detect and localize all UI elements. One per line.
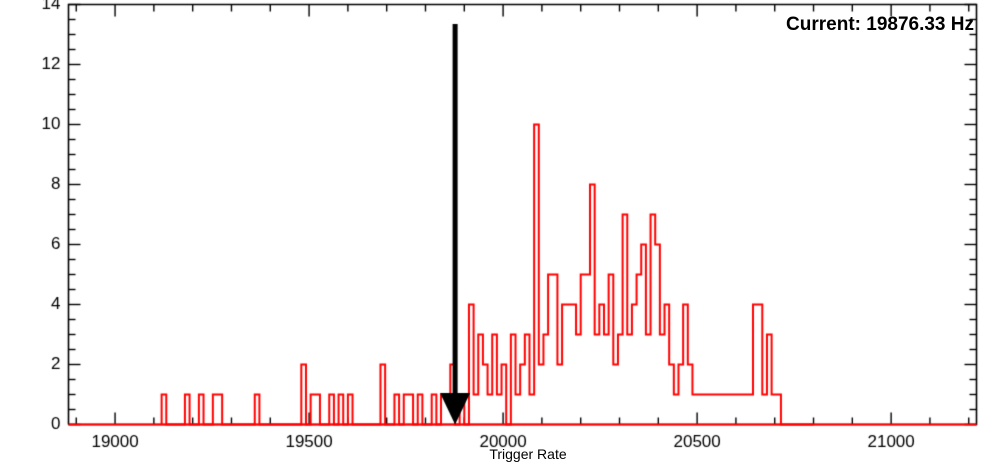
trigger-rate-histogram-canvas[interactable] xyxy=(0,0,996,472)
x-axis-title: Trigger Rate xyxy=(0,446,996,462)
x-axis-title-text: Trigger Rate xyxy=(489,446,566,462)
root-canvas-panel: Current: 19876.33 Hz Trigger Rate xyxy=(0,0,996,472)
current-rate-readout: Current: 19876.33 Hz xyxy=(786,14,974,36)
